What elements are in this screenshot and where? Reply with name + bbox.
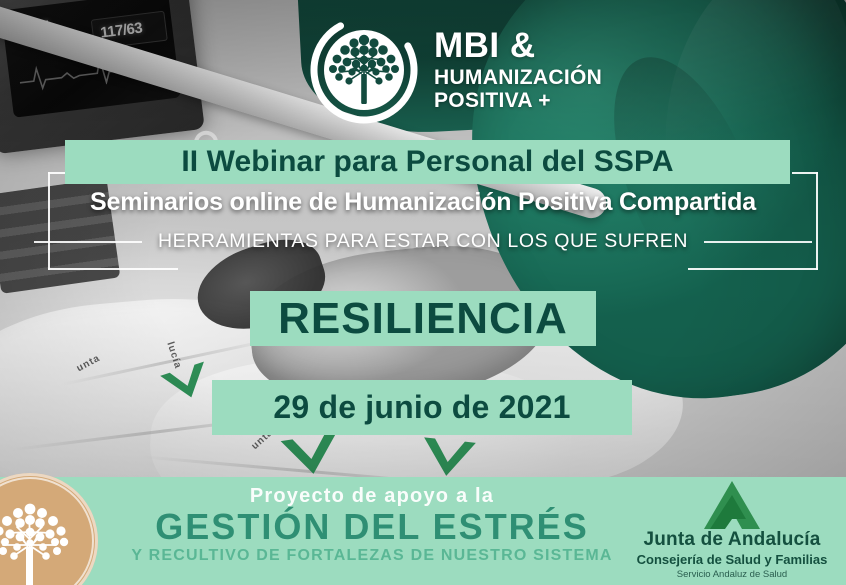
tagline-row: HERRAMIENTAS PARA ESTAR CON LOS QUE SUFR… — [0, 230, 846, 253]
topic-band: RESILIENCIA — [250, 291, 596, 346]
banner-title-text: II Webinar para Personal del SSPA — [181, 145, 673, 179]
date-text: 29 de junio de 2021 — [273, 389, 570, 426]
topic-text: RESILIENCIA — [278, 294, 568, 344]
mbi-logo: MBI & HUMANIZACIÓN POSITIVA + — [308, 14, 602, 126]
footer-program-text: Proyecto de apoyo a la GESTIÓN DEL ESTRÉ… — [112, 485, 632, 565]
tagline-text: HERRAMIENTAS PARA ESTAR CON LOS QUE SUFR… — [158, 230, 688, 253]
stress-program-circle — [0, 473, 98, 585]
footer-line-3: Y RECULTIVO DE FORTALEZAS DE NUESTRO SIS… — [112, 547, 632, 565]
mbi-title: MBI & — [434, 28, 602, 64]
linen-junta-mark-icon — [275, 428, 347, 485]
junta-line-3: Servicio Andaluz de Salud — [632, 569, 832, 580]
mbi-subtitle-line-1: HUMANIZACIÓN — [434, 67, 602, 88]
webinar-poster: unta lucía unta 94 117/63 — [0, 0, 846, 585]
junta-a-logo-icon — [632, 479, 832, 531]
subtitle-text: Seminarios online de Humanización Positi… — [0, 188, 846, 217]
banner-title-band: II Webinar para Personal del SSPA — [65, 140, 790, 184]
mbi-logo-text: MBI & HUMANIZACIÓN POSITIVA + — [434, 28, 602, 112]
footer-line-1: Proyecto de apoyo a la — [112, 485, 632, 508]
footer-line-2: GESTIÓN DEL ESTRÉS — [112, 506, 632, 548]
mbi-subtitle-line-2: POSITIVA + — [434, 90, 602, 111]
junta-line-1: Junta de Andalucía — [632, 529, 832, 551]
junta-de-andalucia-logo: Junta de Andalucía Consejería de Salud y… — [632, 479, 832, 580]
tagline-rule-right — [704, 241, 812, 243]
junta-line-2: Consejería de Salud y Familias — [632, 552, 832, 567]
footer-bar: Proyecto de apoyo a la GESTIÓN DEL ESTRÉ… — [0, 477, 846, 585]
mbi-tree-circle-icon — [308, 14, 420, 126]
footer-tree-icon — [0, 485, 88, 585]
tagline-rule-left — [34, 241, 142, 243]
date-band: 29 de junio de 2021 — [212, 380, 632, 435]
